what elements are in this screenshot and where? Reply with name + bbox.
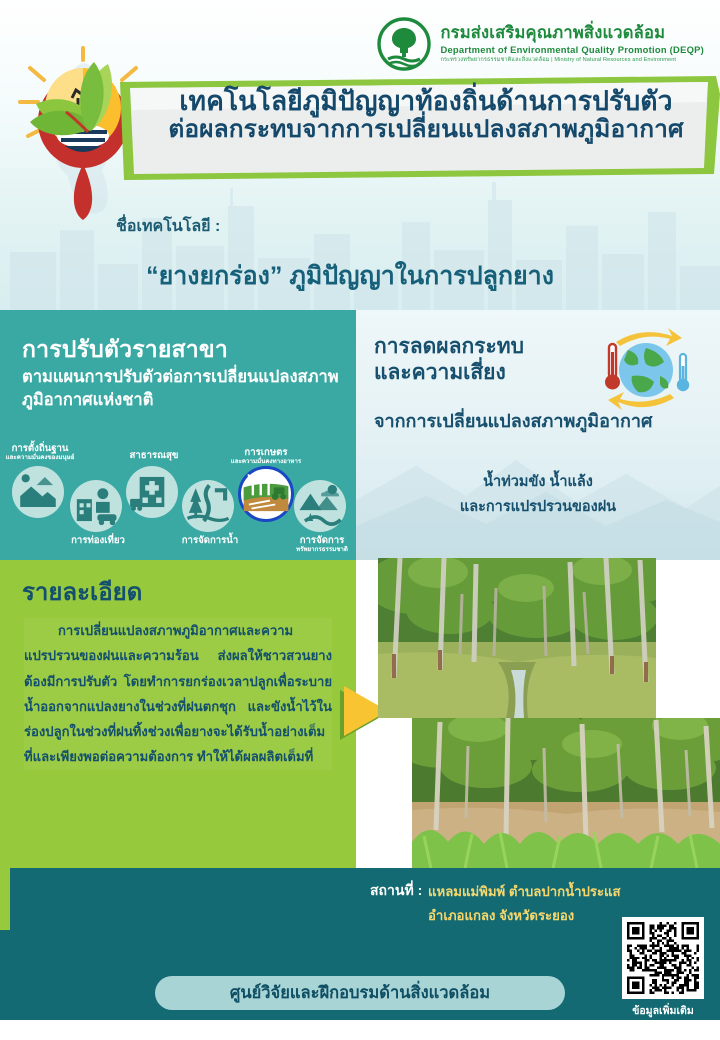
sector-icon-row: การตั้งถิ่นฐานและความมั่นคงของมนุษย์การท… [0,458,356,558]
technology-name-value: “ยางยกร่อง” ภูมิปัญญาในการปลูกยาง [0,256,700,296]
sector-label-main: การจัดการน้ำ [154,536,266,547]
qr-code[interactable] [622,917,704,999]
sector-label-sub: และความมั่นคงของมนุษย์ [0,455,96,462]
deqp-logo-text: กรมส่งเสริมคุณภาพสิ่งแวดล้อม Department … [440,24,704,64]
mitigation-heading-line-2: และความเสี่ยง [374,360,584,386]
technology-name-label: ชื่อเทคโนโลยี : [116,214,220,239]
sector-label-main: การท่องเที่ยว [42,536,154,547]
climate-risk-line-2: และการแปรปรวนของฝน [356,495,720,520]
poster-header: เทคโนโลยีภูมิปัญญาท้องถิ่นด้านการปรับตัว… [0,0,720,310]
sector-item-public-health[interactable]: สาธารณสุข [126,466,182,518]
location-label: สถานที่ : [370,880,422,902]
sector-panel-subheading: ตามแผนการปรับตัวต่อการเปลี่ยนแปลงสภาพภูม… [22,366,342,412]
organization-name: ศูนย์วิจัยและฝึกอบรมด้านสิ่งแวดล้อม [230,980,490,1006]
sector-item-tourism[interactable]: การท่องเที่ยว [70,480,126,532]
deqp-logo: กรมส่งเสริมคุณภาพสิ่งแวดล้อม Department … [377,14,704,74]
page-title: เทคโนโลยีภูมิปัญญาท้องถิ่นด้านการปรับตัว… [152,86,700,144]
photo-rubber-plantation-with-drainage-furrow [378,558,656,718]
details-body-text: การเปลี่ยนแปลงสภาพภูมิอากาศและความแปรปรว… [24,618,332,770]
location-line-1: แหลมแม่พิมพ์ ตำบลปากน้ำประแส [428,880,628,904]
details-heading: รายละเอียด [22,572,142,611]
young-rubber-plantation-image [412,718,720,873]
agriculture-icon [238,466,294,522]
qr-code-icon[interactable] [627,922,699,994]
mitigation-panel: การลดผลกระทบ และความเสี่ยง จากการเปลี่ยน… [356,310,720,560]
deqp-name-thai: กรมส่งเสริมคุณภาพสิ่งแวดล้อม [440,24,704,43]
location-line-2: อำเภอแกลง จังหวัดระยอง [428,904,628,928]
thermometer-cold-icon [677,354,689,391]
public-health-icon [126,466,178,518]
page-title-line-1: เทคโนโลยีภูมิปัญญาท้องถิ่นด้านการปรับตัว [152,86,700,116]
tourism-icon [70,480,122,532]
sector-item-agriculture[interactable]: การเกษตรและความมั่นคงทางอาหาร [238,466,294,522]
bottom-margin [0,1020,720,1040]
sector-label: การเกษตรและความมั่นคงทางอาหาร [210,448,322,466]
sector-label: การจัดการน้ำ [154,536,266,547]
sector-panel-heading: การปรับตัวรายสาขา [22,332,228,368]
footer-green-accent [0,868,10,930]
mitigation-heading-line-1: การลดผลกระทบ [374,334,584,360]
settlement-icon [12,466,64,518]
rubber-plantation-image [378,558,656,718]
photo-young-rubber-plantation [412,718,720,873]
organization-pill: ศูนย์วิจัยและฝึกอบรมด้านสิ่งแวดล้อม [155,976,565,1010]
deqp-name-english: Department of Environmental Quality Prom… [440,44,704,55]
sector-adaptation-panel: การปรับตัวรายสาขา ตามแผนการปรับตัวต่อการ… [0,310,356,560]
sector-label-main: สาธารณสุข [98,451,210,462]
mitigation-heading: การลดผลกระทบ และความเสี่ยง [374,334,584,385]
sector-label: สาธารณสุข [98,451,210,462]
poster-root: เทคโนโลยีภูมิปัญญาท้องถิ่นด้านการปรับตัว… [0,0,720,1040]
sector-label: การท่องเที่ยว [42,536,154,547]
deqp-ministry-line: กระทรวงทรัพยากรธรรมชาติและสิ่งแวดล้อม | … [440,57,704,64]
water-management-icon [182,480,234,532]
climate-risk-list: น้ำท่วมขัง น้ำแล้ง และการแปรปรวนของฝน [356,470,720,521]
climate-risk-line-1: น้ำท่วมขัง น้ำแล้ง [356,470,720,495]
location-value: แหลมแม่พิมพ์ ตำบลปากน้ำประแส อำเภอแกลง จ… [428,880,628,929]
page-title-line-2: ต่อผลกระทบจากการเปลี่ยนแปลงสภาพภูมิอากาศ [152,116,700,144]
globe-thermometer-icon [584,324,702,416]
sector-item-water-management[interactable]: การจัดการน้ำ [182,480,238,532]
qr-caption: ข้อมูลเพิ่มเติม [612,1002,714,1019]
sector-item-natural-resources[interactable]: การจัดการทรัพยากรธรรมชาติ [294,480,350,532]
sector-item-settlement[interactable]: การตั้งถิ่นฐานและความมั่นคงของมนุษย์ [12,466,68,518]
sector-label-sub: และความมั่นคงทางอาหาร [210,459,322,466]
sector-label: การตั้งถิ่นฐานและความมั่นคงของมนุษย์ [0,444,96,462]
deqp-emblem-icon [377,17,431,71]
thermometer-hot-icon [605,344,620,390]
natural-resources-icon [294,480,346,532]
